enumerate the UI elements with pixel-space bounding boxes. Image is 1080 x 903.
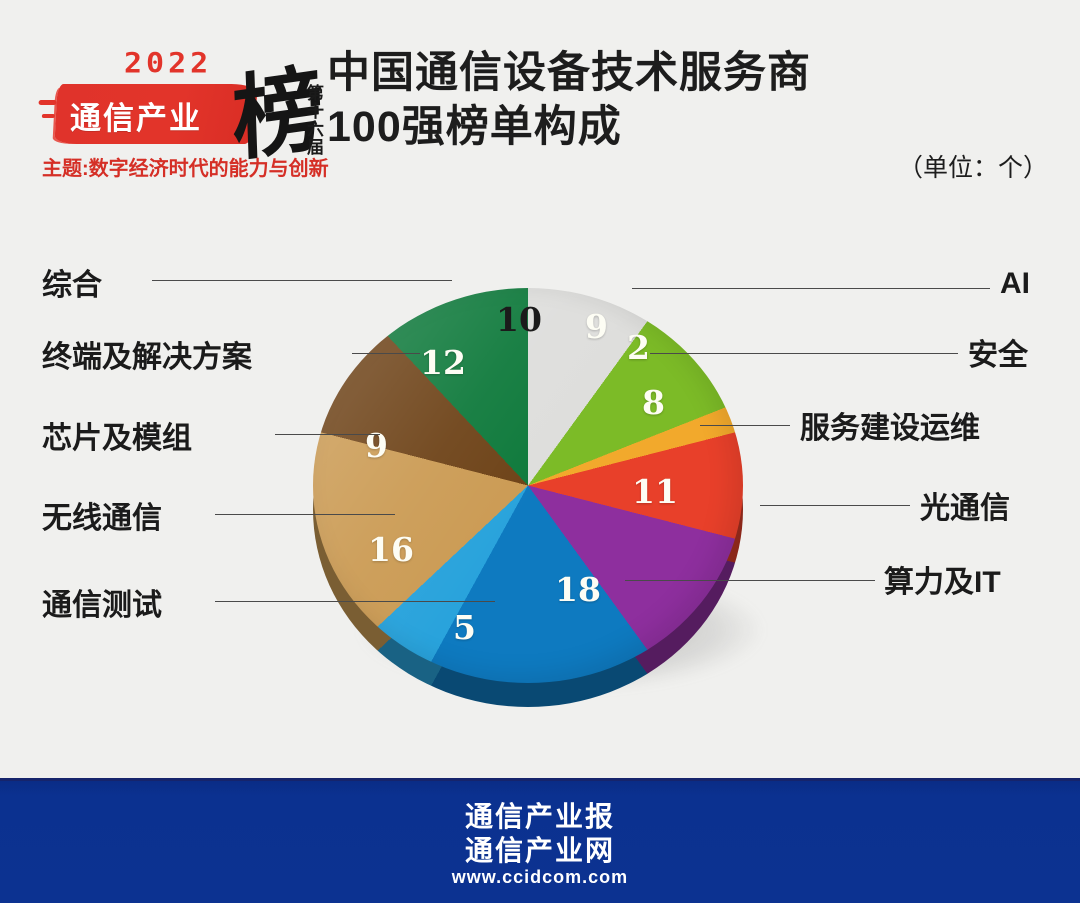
slice-value-guangtongxin: 11	[632, 472, 678, 511]
leader-line-anquan	[650, 353, 958, 354]
label-anquan: 安全	[968, 330, 1028, 374]
logo-edition-text: 第十六届	[298, 84, 322, 156]
slice-value-anquan: 2	[627, 328, 650, 367]
leader-line-guangtongxin	[760, 505, 910, 506]
leader-line-zhongduan	[352, 353, 420, 354]
slice-value-zhongduan: 12	[420, 343, 466, 382]
label-tongxinceshi: 通信测试	[42, 580, 162, 624]
unit-note: （单位：个）	[898, 148, 1048, 184]
slice-value-suanli: 18	[555, 570, 601, 609]
leader-line-xinpian	[275, 434, 380, 435]
footer-url: www.ccidcom.com	[0, 867, 1080, 888]
slice-value-zonghe: 10	[496, 300, 542, 339]
leader-line-zonghe	[152, 280, 452, 281]
title-line-2: 100强榜单构成	[327, 100, 987, 154]
logo-year: 2022	[124, 46, 212, 81]
slice-value-fuwu: 8	[642, 383, 665, 422]
leader-line-suanli	[625, 580, 875, 581]
leader-line-wuxian	[215, 514, 395, 515]
label-guangtongxin: 光通信	[920, 483, 1010, 527]
infographic-canvas: 2022 通信产业 榜 第十六届 主题:数字经济时代的能力与创新 中国通信设备技…	[0, 0, 1080, 900]
pie-chart-area: 10 12 9 16 5 9 2 8 11 18 综合 终端及解决方案 芯片及模…	[0, 205, 1080, 780]
label-zhongduan: 终端及解决方案	[42, 332, 252, 376]
label-suanli: 算力及IT	[884, 557, 1001, 601]
leader-line-tongxinceshi	[215, 601, 495, 602]
slice-value-wuxian: 16	[368, 530, 414, 569]
slice-value-ai: 9	[585, 307, 608, 346]
pie-chart: 10 12 9 16 5 9 2 8 11 18	[305, 240, 765, 710]
slice-value-xinpian: 9	[365, 426, 388, 465]
label-fuwu: 服务建设运维	[800, 403, 980, 447]
label-zonghe: 综合	[42, 260, 102, 304]
footer-website-name: 通信产业网	[0, 829, 1080, 869]
event-logo: 2022 通信产业 榜 第十六届 主题:数字经济时代的能力与创新	[36, 46, 321, 186]
slice-value-tongxinceshi: 5	[453, 608, 476, 647]
label-ai: AI	[1000, 267, 1030, 301]
label-wuxian: 无线通信	[42, 493, 162, 537]
page-title: 中国通信设备技术服务商 100强榜单构成	[327, 46, 987, 154]
leader-line-ai	[632, 288, 990, 289]
leader-line-fuwu	[700, 425, 790, 426]
title-line-1: 中国通信设备技术服务商	[327, 46, 987, 100]
footer-banner: 通信产业报 通信产业网 www.ccidcom.com	[0, 778, 1080, 903]
pie-face	[313, 288, 743, 683]
logo-year-text: 2022	[124, 47, 212, 79]
header: 2022 通信产业 榜 第十六届 主题:数字经济时代的能力与创新 中国通信设备技…	[0, 0, 1080, 210]
label-xinpian: 芯片及模组	[42, 413, 192, 457]
logo-subtitle: 主题:数字经济时代的能力与创新	[42, 152, 329, 181]
